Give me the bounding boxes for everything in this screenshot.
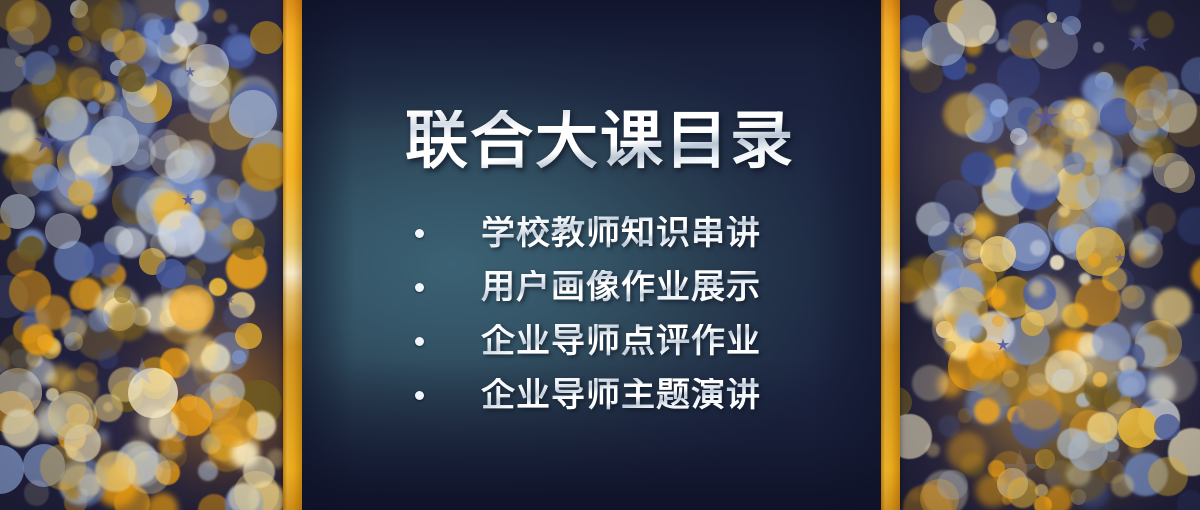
list-item-label: 企业导师主题演讲 — [481, 378, 761, 412]
list-item-label: 用户画像作业展示 — [481, 270, 761, 304]
agenda-list: 学校教师知识串讲 用户画像作业展示 企业导师点评作业 企业导师主题演讲 — [0, 206, 1200, 422]
bullet-dot-icon — [415, 391, 424, 400]
bullet-dot-icon — [415, 337, 424, 346]
bullet-dot-icon — [415, 283, 424, 292]
list-item[interactable]: 学校教师知识串讲 — [0, 206, 1200, 260]
list-item-label: 企业导师点评作业 — [481, 324, 761, 358]
list-item[interactable]: 企业导师主题演讲 — [0, 368, 1200, 422]
page-title: 联合大课目录 — [0, 110, 1200, 173]
presentation-slide: 联合大课目录 学校教师知识串讲 用户画像作业展示 企业导师点评作业 企业导师主题… — [0, 0, 1200, 510]
bullet-dot-icon — [415, 229, 424, 238]
list-item[interactable]: 用户画像作业展示 — [0, 260, 1200, 314]
list-item[interactable]: 企业导师点评作业 — [0, 314, 1200, 368]
list-item-label: 学校教师知识串讲 — [481, 216, 761, 250]
